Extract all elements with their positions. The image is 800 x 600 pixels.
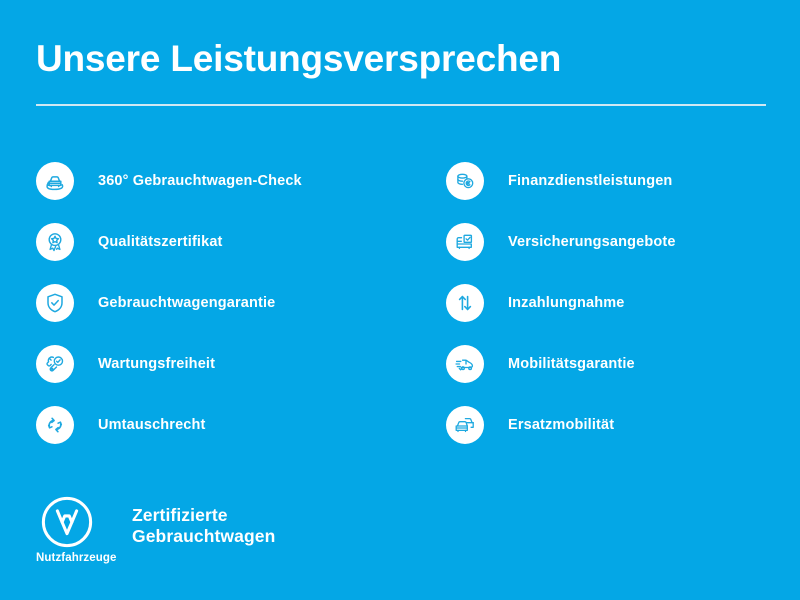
shield-check-icon bbox=[36, 284, 74, 322]
list-item[interactable]: Wartungsfreiheit bbox=[36, 333, 446, 394]
promises-column-right: Finanzdienstleistungen Versicherungsange… bbox=[446, 150, 766, 455]
list-item-label: Versicherungsangebote bbox=[508, 233, 676, 251]
brand-subtitle: Nutzfahrzeuge bbox=[36, 552, 118, 564]
brand-claim-line1: Zertifizierte bbox=[132, 505, 275, 526]
list-item[interactable]: 360° Gebrauchtwagen-Check bbox=[36, 150, 446, 211]
title-divider bbox=[36, 104, 766, 106]
brand-mark: Nutzfahrzeuge bbox=[36, 495, 118, 564]
two-cars-icon bbox=[446, 406, 484, 444]
van-document-check-icon bbox=[446, 223, 484, 261]
list-item-label: Inzahlungnahme bbox=[508, 294, 625, 312]
list-item[interactable]: Inzahlungnahme bbox=[446, 272, 766, 333]
header: Unsere Leistungsversprechen bbox=[36, 36, 766, 106]
award-rosette-icon bbox=[36, 223, 74, 261]
exchange-arrows-icon bbox=[36, 406, 74, 444]
footer-brand: Nutzfahrzeuge Zertifizierte Gebrauchtwag… bbox=[36, 495, 275, 564]
list-item-label: 360° Gebrauchtwagen-Check bbox=[98, 172, 302, 190]
slide-root: Unsere Leistungsversprechen 360° Gebrauc bbox=[0, 0, 800, 600]
list-item[interactable]: Ersatzmobilität bbox=[446, 394, 766, 455]
page-title: Unsere Leistungsversprechen bbox=[36, 36, 766, 82]
list-item-label: Mobilitätsgarantie bbox=[508, 355, 635, 373]
list-item[interactable]: Gebrauchtwagengarantie bbox=[36, 272, 446, 333]
promises-column-left: 360° Gebrauchtwagen-Check Qualitätszerti… bbox=[36, 150, 446, 455]
list-item-label: Umtauschrecht bbox=[98, 416, 206, 434]
list-item[interactable]: Mobilitätsgarantie bbox=[446, 333, 766, 394]
brand-claim: Zertifizierte Gebrauchtwagen bbox=[132, 505, 275, 547]
list-item[interactable]: Finanzdienstleistungen bbox=[446, 150, 766, 211]
list-item-label: Wartungsfreiheit bbox=[98, 355, 215, 373]
list-item-label: Qualitätszertifikat bbox=[98, 233, 223, 251]
list-item[interactable]: Versicherungsangebote bbox=[446, 211, 766, 272]
list-item-label: Finanzdienstleistungen bbox=[508, 172, 672, 190]
list-item-label: Gebrauchtwagengarantie bbox=[98, 294, 275, 312]
coins-euro-icon bbox=[446, 162, 484, 200]
list-item[interactable]: Umtauschrecht bbox=[36, 394, 446, 455]
promises-section: 360° Gebrauchtwagen-Check Qualitätszerti… bbox=[36, 150, 766, 455]
wrench-check-icon bbox=[36, 345, 74, 383]
van-speed-check-icon bbox=[446, 345, 484, 383]
up-down-arrows-icon bbox=[446, 284, 484, 322]
list-item-label: Ersatzmobilität bbox=[508, 416, 614, 434]
list-item[interactable]: Qualitätszertifikat bbox=[36, 211, 446, 272]
car-360-check-icon bbox=[36, 162, 74, 200]
brand-claim-line2: Gebrauchtwagen bbox=[132, 526, 275, 547]
volkswagen-logo-icon bbox=[40, 495, 94, 549]
